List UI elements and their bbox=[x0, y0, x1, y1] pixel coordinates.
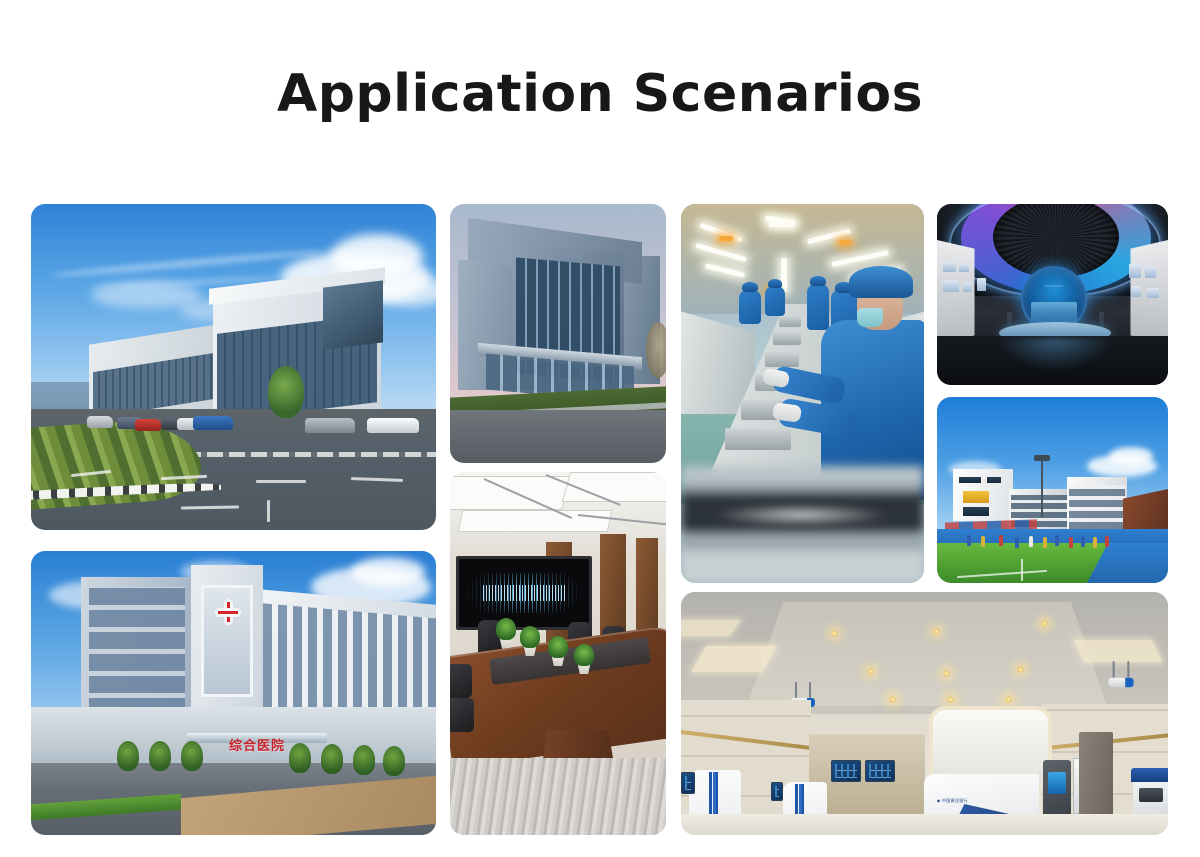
hospital-name-sign: 综合医院 bbox=[229, 735, 285, 754]
assembly-module bbox=[725, 428, 791, 450]
application-scenarios-gallery: 综合医院 bbox=[0, 0, 1200, 857]
exhibition-hall-scene: ▭▭▭▭▭▭ bbox=[937, 204, 1168, 385]
school-campus-scene bbox=[937, 397, 1168, 583]
student bbox=[1029, 536, 1033, 547]
student bbox=[1069, 537, 1073, 548]
student bbox=[1105, 536, 1109, 547]
ceiling-light bbox=[769, 222, 795, 227]
ceiling-downlight bbox=[947, 696, 954, 703]
screen-imagery bbox=[1031, 302, 1077, 322]
building-c-windows bbox=[1069, 485, 1125, 529]
floor-reflection bbox=[999, 338, 1111, 370]
tree bbox=[181, 741, 203, 771]
student bbox=[999, 535, 1003, 546]
red-cross-icon bbox=[215, 599, 241, 625]
worker-cap bbox=[810, 276, 826, 286]
scenario-tile-school-campus[interactable] bbox=[937, 397, 1168, 583]
cove-light bbox=[1074, 640, 1163, 662]
tree bbox=[646, 322, 666, 378]
scenario-tile-conference-room[interactable] bbox=[450, 472, 666, 835]
carpet-floor bbox=[450, 758, 666, 835]
building-corner-panel bbox=[323, 280, 383, 349]
tree bbox=[321, 744, 343, 774]
pitch-marking bbox=[1021, 559, 1023, 581]
audio-waveform-peak bbox=[482, 585, 565, 601]
parking-stripe bbox=[256, 480, 306, 483]
info-display bbox=[831, 760, 861, 782]
polished-floor bbox=[681, 814, 1168, 835]
ceiling-downlight bbox=[867, 668, 874, 675]
side-chair bbox=[450, 664, 472, 698]
exhibit-panel bbox=[959, 264, 969, 272]
worker-cap bbox=[742, 282, 758, 292]
student bbox=[1015, 537, 1019, 548]
scenario-tile-industrial-park[interactable] bbox=[31, 204, 436, 530]
tree bbox=[268, 366, 304, 418]
tree bbox=[149, 741, 171, 771]
yellow-accent-panel bbox=[963, 491, 989, 503]
assembly-module bbox=[765, 352, 799, 367]
tree bbox=[353, 745, 375, 775]
atm-screen bbox=[1139, 788, 1163, 802]
potted-plant bbox=[548, 636, 568, 658]
foreground-worker-cap bbox=[849, 266, 913, 298]
worker-background bbox=[739, 290, 761, 324]
road bbox=[450, 410, 666, 463]
reception-desk-logo: ◆ 中国建设银行 bbox=[937, 798, 968, 804]
student bbox=[967, 535, 971, 546]
exhibit-panel bbox=[1147, 288, 1159, 298]
exhibit-panel bbox=[943, 262, 956, 272]
building-a-window bbox=[963, 507, 989, 516]
parked-car bbox=[135, 419, 161, 431]
tower-windows bbox=[89, 587, 185, 715]
potted-plant bbox=[520, 626, 540, 648]
face-mask bbox=[857, 308, 883, 327]
wireless-access-point bbox=[1108, 678, 1133, 687]
info-display bbox=[865, 760, 895, 782]
worker-background bbox=[765, 286, 785, 316]
office-building-scene bbox=[450, 204, 666, 463]
indicator-lamp bbox=[839, 240, 851, 245]
assembly-module bbox=[773, 332, 801, 345]
ceiling-downlight bbox=[831, 630, 838, 637]
exhibit-panel bbox=[963, 282, 972, 292]
student bbox=[1055, 535, 1059, 546]
cloud bbox=[1109, 447, 1153, 465]
student bbox=[1081, 536, 1085, 547]
side-chair bbox=[450, 698, 474, 732]
worker-background bbox=[807, 284, 829, 330]
exhibit-panel bbox=[1131, 286, 1141, 297]
parking-stripe bbox=[267, 500, 270, 522]
student bbox=[981, 536, 985, 547]
ceiling-downlight bbox=[1041, 620, 1048, 627]
tree bbox=[383, 746, 405, 776]
tree bbox=[117, 741, 139, 771]
indicator-lamp bbox=[719, 236, 733, 241]
scenario-tile-exhibition-hall[interactable]: ▭▭▭▭▭▭ bbox=[937, 204, 1168, 385]
ceiling-downlight bbox=[1017, 666, 1024, 673]
scenario-tile-factory-line[interactable] bbox=[681, 204, 924, 583]
ceiling-downlight bbox=[1005, 696, 1012, 703]
floodlight-head bbox=[1034, 455, 1050, 461]
student bbox=[1093, 537, 1097, 548]
hospital-scene: 综合医院 bbox=[31, 551, 436, 835]
worker-cap bbox=[768, 279, 782, 288]
ap-indicator bbox=[1125, 678, 1133, 687]
left-exhibit-wall bbox=[937, 240, 975, 344]
ceiling-downlight bbox=[889, 696, 896, 703]
ceiling-panel bbox=[458, 510, 613, 532]
parked-car bbox=[367, 418, 419, 433]
assembly-module bbox=[779, 316, 801, 327]
factory-scene bbox=[681, 204, 924, 583]
screen-caption: ▭▭▭▭▭▭ bbox=[1023, 284, 1085, 288]
application-scenarios-page: Application Scenarios bbox=[0, 0, 1200, 857]
student bbox=[1043, 537, 1047, 548]
ceiling-recess bbox=[747, 602, 1107, 706]
presentation-display[interactable] bbox=[456, 556, 592, 630]
floodlight-mast bbox=[1041, 459, 1043, 517]
exhibit-panel bbox=[1129, 264, 1141, 278]
parked-car bbox=[305, 418, 355, 433]
industrial-park-scene bbox=[31, 204, 436, 530]
parked-car bbox=[193, 416, 233, 430]
potted-plant bbox=[574, 644, 594, 666]
specular-highlight bbox=[711, 504, 891, 526]
exhibit-panel bbox=[1145, 266, 1156, 278]
building-a-window bbox=[959, 477, 981, 483]
scenario-tile-bank-branch[interactable]: ◆ 中国建设银行 bbox=[681, 592, 1168, 835]
tree bbox=[289, 743, 311, 773]
scenario-tile-office-building[interactable] bbox=[450, 204, 666, 463]
backlit-feature-wall bbox=[933, 710, 1048, 784]
cloud bbox=[351, 557, 425, 587]
bank-branch-scene: ◆ 中国建设银行 bbox=[681, 592, 1168, 835]
parked-car bbox=[87, 416, 113, 428]
exhibit-panel bbox=[977, 278, 986, 291]
conference-room-scene bbox=[450, 472, 666, 835]
scenario-tile-hospital[interactable]: 综合医院 bbox=[31, 551, 436, 835]
exhibit-panel bbox=[943, 280, 959, 292]
kiosk-screen bbox=[1048, 772, 1066, 794]
teller-monitor bbox=[681, 772, 695, 794]
potted-plant bbox=[496, 618, 516, 640]
ceiling-downlight bbox=[933, 628, 940, 635]
building-a-window bbox=[987, 477, 1001, 483]
teller-monitor bbox=[771, 782, 783, 801]
ceiling-downlight bbox=[943, 670, 950, 677]
atm-header-panel bbox=[1131, 768, 1168, 782]
